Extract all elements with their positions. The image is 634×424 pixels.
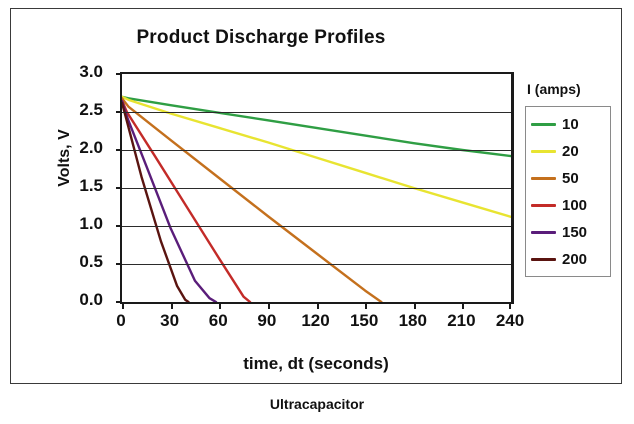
x-axis-title: time, dt (seconds) — [120, 354, 512, 374]
y-tick-mark — [116, 149, 122, 151]
legend-label: 50 — [562, 171, 579, 186]
gridline — [122, 150, 511, 151]
legend-label: 200 — [562, 252, 587, 267]
x-tick-mark — [317, 302, 319, 309]
gridline — [122, 112, 511, 113]
x-tick-label: 240 — [496, 311, 524, 331]
x-tick-mark — [171, 302, 173, 309]
gridline — [122, 264, 511, 265]
x-tick-mark — [365, 302, 367, 309]
y-tick-label: 2.5 — [79, 100, 103, 120]
x-tick-mark — [414, 302, 416, 309]
legend-swatch-icon — [531, 231, 556, 234]
x-tick-mark — [219, 302, 221, 309]
legend-item[interactable]: 200 — [526, 246, 610, 273]
legend-item[interactable]: 10 — [526, 111, 610, 138]
chart-title: Product Discharge Profiles — [11, 27, 511, 49]
y-tick-label: 3.0 — [79, 62, 103, 82]
legend-title: I (amps) — [527, 81, 627, 97]
legend-label: 100 — [562, 198, 587, 213]
gridline — [122, 226, 511, 227]
legend-label: 10 — [562, 117, 579, 132]
y-tick-mark — [116, 225, 122, 227]
plot-area — [120, 72, 514, 304]
y-tick-label: 2.0 — [79, 138, 103, 158]
y-tick-mark — [116, 187, 122, 189]
legend-box: 102050100150200 — [525, 106, 611, 277]
series-line-150 — [122, 101, 216, 302]
y-tick-label: 1.5 — [79, 176, 103, 196]
y-tick-label: 1.0 — [79, 214, 103, 234]
x-tick-mark — [462, 302, 464, 309]
legend-label: 20 — [562, 144, 579, 159]
chart-page: Product Discharge Profiles Volts, V 0.00… — [0, 0, 634, 424]
y-axis-tick-labels: 0.00.51.01.52.02.53.0 — [55, 72, 113, 300]
x-tick-label: 120 — [301, 311, 329, 331]
x-tick-label: 210 — [447, 311, 475, 331]
x-tick-label: 0 — [116, 311, 125, 331]
figure-caption: Ultracapacitor — [0, 396, 634, 412]
legend-swatch-icon — [531, 150, 556, 153]
legend-item[interactable]: 100 — [526, 192, 610, 219]
x-tick-mark — [268, 302, 270, 309]
legend-swatch-icon — [531, 258, 556, 261]
x-tick-label: 90 — [257, 311, 276, 331]
x-tick-mark — [509, 302, 511, 309]
y-tick-label: 0.5 — [79, 252, 103, 272]
legend-swatch-icon — [531, 123, 556, 126]
legend-item[interactable]: 50 — [526, 165, 610, 192]
x-tick-mark — [122, 302, 124, 309]
y-tick-mark — [116, 73, 122, 75]
y-tick-mark — [116, 263, 122, 265]
y-tick-label: 0.0 — [79, 290, 103, 310]
x-axis-tick-labels: 0306090120150180210240 — [120, 311, 512, 335]
legend-item[interactable]: 150 — [526, 219, 610, 246]
gridline — [122, 188, 511, 189]
chart-frame: Product Discharge Profiles Volts, V 0.00… — [10, 8, 622, 384]
legend-swatch-icon — [531, 204, 556, 207]
y-tick-mark — [116, 111, 122, 113]
legend-item[interactable]: 20 — [526, 138, 610, 165]
x-tick-label: 60 — [209, 311, 228, 331]
x-tick-label: 150 — [350, 311, 378, 331]
legend-label: 150 — [562, 225, 587, 240]
x-tick-label: 180 — [399, 311, 427, 331]
legend-swatch-icon — [531, 177, 556, 180]
x-tick-label: 30 — [160, 311, 179, 331]
